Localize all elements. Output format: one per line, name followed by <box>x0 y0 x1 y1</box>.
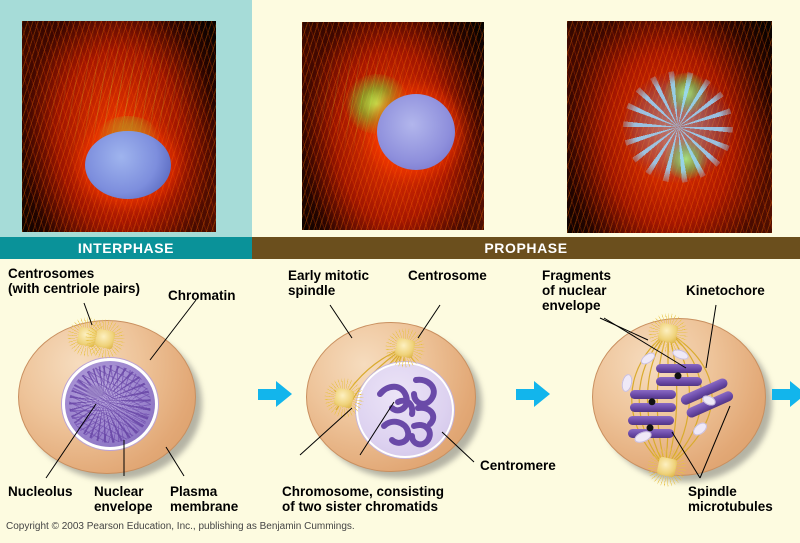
arrow-interphase-to-prophase <box>258 381 292 407</box>
chromosome <box>630 390 676 412</box>
label-kinetochore: Kinetochore <box>686 283 765 298</box>
prometaphase-micrograph <box>567 21 772 233</box>
arrow-prophase-to-prometaphase <box>516 381 550 407</box>
prometaphase-cell-diagram <box>584 312 780 488</box>
interphase-nucleus <box>62 358 158 450</box>
label-centrosomes: Centrosomes (with centriole pairs) <box>8 266 140 296</box>
label-spindle-microtubules: Spindle microtubules <box>688 484 773 514</box>
phase-band-interphase-label: INTERPHASE <box>0 237 252 259</box>
phase-band-prophase-label: PROPHASE <box>252 237 800 259</box>
centrosome <box>654 454 680 480</box>
prophase-micrograph <box>302 22 484 230</box>
centrosome-pair <box>92 326 118 352</box>
label-nuclear-envelope: Nuclear envelope <box>94 484 153 514</box>
label-plasma-membrane: Plasma membrane <box>170 484 238 514</box>
centrosome <box>392 335 418 361</box>
nucleolus <box>87 385 104 398</box>
label-fragments-nuclear-envelope: Fragments of nuclear envelope <box>542 268 611 313</box>
copyright-notice: Copyright © 2003 Pearson Education, Inc.… <box>6 521 355 532</box>
label-nucleolus: Nucleolus <box>8 484 73 499</box>
interphase-cell-diagram <box>12 316 207 486</box>
prophase-cell-diagram <box>300 318 490 486</box>
mitosis-figure: INTERPHASE PROPHASE <box>0 0 800 543</box>
chromatin <box>69 365 151 443</box>
prophase-nucleus <box>356 362 454 458</box>
chromosome <box>656 364 702 386</box>
label-early-mitotic-spindle: Early mitotic spindle <box>288 268 369 298</box>
interphase-micrograph <box>22 21 216 232</box>
arrow-prometaphase-to-next <box>772 381 800 407</box>
kinetochore <box>648 398 655 405</box>
label-chromatin: Chromatin <box>168 288 236 303</box>
centrosome <box>655 320 681 346</box>
phase-band-prophase: PROPHASE <box>252 237 800 259</box>
phase-band-interphase: INTERPHASE <box>0 237 252 259</box>
label-centromere: Centromere <box>480 458 556 473</box>
centrosome <box>331 385 357 411</box>
label-centrosome: Centrosome <box>408 268 487 283</box>
label-chromosome: Chromosome, consisting of two sister chr… <box>282 484 444 514</box>
kinetochore <box>674 372 681 379</box>
